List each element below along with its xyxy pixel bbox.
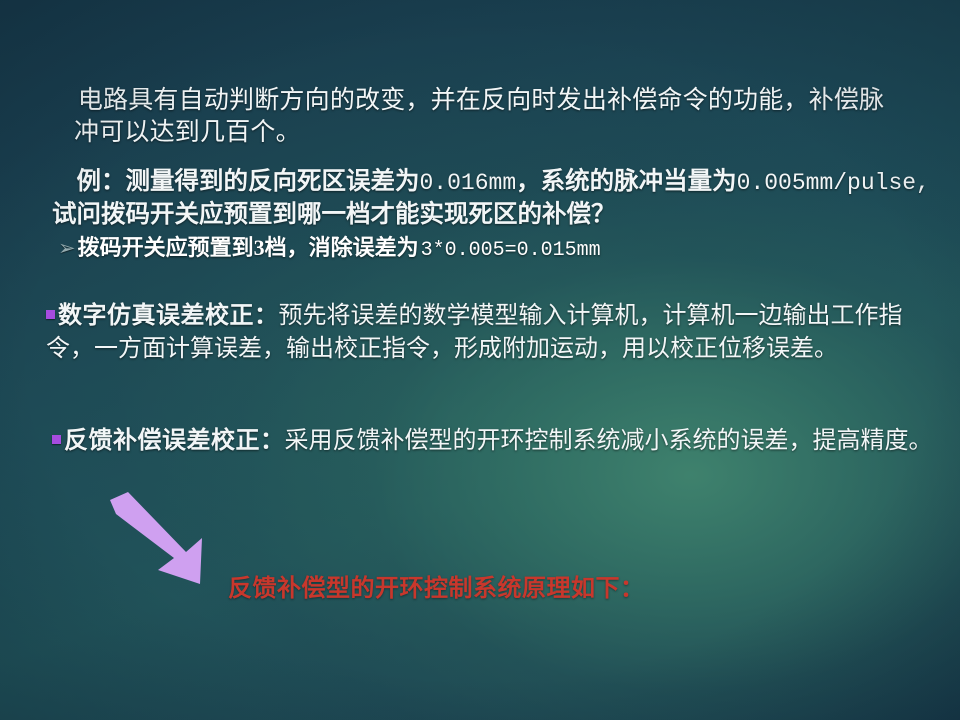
example-value-deadzone: 0.016mm (420, 170, 517, 196)
caption-text: 反馈补偿型的开环控制系统原理如下： (228, 568, 645, 603)
down-right-arrow-icon (108, 492, 218, 592)
digital-correction-heading: 数字仿真误差校正： (58, 303, 279, 329)
answer-formula: 3*0.005=0.015mm (421, 239, 601, 262)
example-line1-prefix: 例：测量得到的反向死区误差为 (77, 168, 420, 195)
example-line-2: 试问拨码开关应预置到哪一档才能实现死区的补偿？ (52, 199, 947, 231)
slide-canvas: 电路具有自动判断方向的改变，并在反向时发出补偿命令的功能，补偿脉冲可以达到几百个… (0, 0, 960, 720)
feedback-correction-heading: 反馈补偿误差校正： (64, 428, 285, 454)
feedback-correction-body: 采用反馈补偿型的开环控制系统减小系统的误差，提高精度。 (285, 428, 933, 454)
intro-line-1: 电路具有自动判断方向的改变，并在反向时发出补偿命令的功能，补偿脉 (78, 87, 884, 114)
example-value-pulse-equivalent: 0.005mm/pulse, (737, 170, 930, 196)
answer-line: ➢ 拨码开关应预置到3档，消除误差为 3*0.005=0.015mm (58, 230, 918, 262)
answer-text: 拨码开关应预置到3档，消除误差为 (78, 230, 419, 262)
example-line1-middle: ，系统的脉冲当量为 (516, 168, 737, 195)
square-bullet-icon (46, 310, 55, 319)
feedback-correction-block: 反馈补偿误差校正：采用反馈补偿型的开环控制系统减小系统的误差，提高精度。 (52, 425, 942, 458)
square-bullet-icon (52, 435, 61, 444)
arrow-bullet-icon: ➢ (58, 236, 76, 260)
example-paragraph: 例：测量得到的反向死区误差为0.016mm，系统的脉冲当量为0.005mm/pu… (52, 134, 947, 294)
digital-correction-block: 数字仿真误差校正：预先将误差的数学模型输入计算机，计算机一边输出工作指令，一方面… (46, 300, 936, 365)
